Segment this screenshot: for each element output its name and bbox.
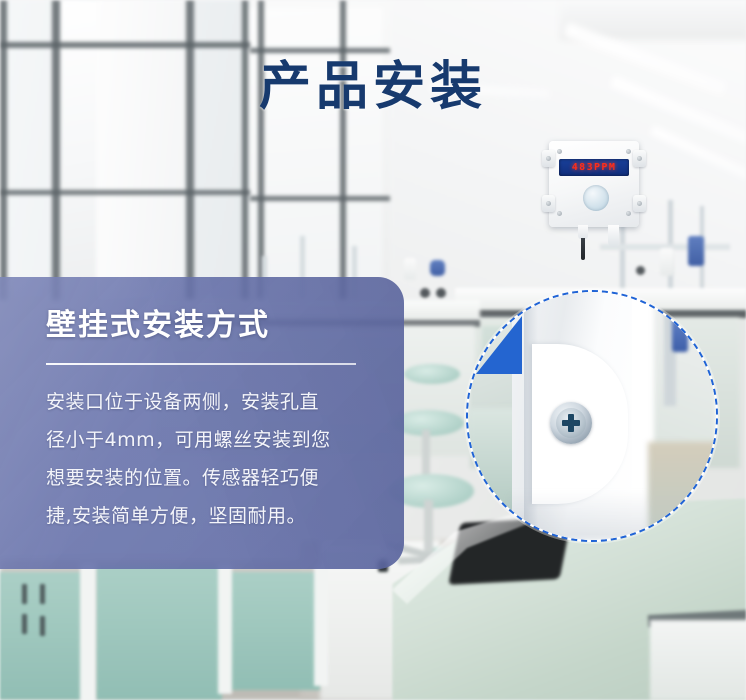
magnifier-backdrop-bench <box>648 442 716 540</box>
device-cable <box>581 238 585 260</box>
panel-description: 安装口位于设备两侧，安装孔直 径小于4mm，可用螺丝安装到您 想要安装的位置。传… <box>46 383 364 535</box>
panel-heading: 壁挂式安装方式 <box>46 309 404 342</box>
device-screw <box>557 211 562 216</box>
description-line-4: 捷,安装简单方便，坚固耐用。 <box>46 497 364 535</box>
device-screw <box>637 201 642 206</box>
device-cable-gland <box>578 225 588 239</box>
device-screw <box>637 156 642 161</box>
phillips-cross-icon <box>562 414 580 432</box>
description-line-3: 想要安装的位置。传感器轻巧便 <box>46 459 364 497</box>
device-screw <box>546 201 551 206</box>
device-probe <box>608 225 619 247</box>
description-line-1: 安装口位于设备两侧，安装孔直 <box>46 383 364 421</box>
device-sensor-vent <box>583 185 609 211</box>
mounting-hole-magnifier-callout <box>466 290 718 542</box>
wall-mounted-sensor-device: 483PPM <box>549 141 639 227</box>
product-installation-banner: 产品安装 483PPM <box>0 0 746 700</box>
page-title: 产品安装 <box>0 44 746 119</box>
magnifier-shadow <box>508 490 648 540</box>
device-screw <box>557 149 562 154</box>
magnifier-content <box>468 292 716 540</box>
device-reading-value: 483PPM <box>572 162 617 173</box>
device-led-display: 483PPM <box>559 159 629 176</box>
installation-info-panel: 壁挂式安装方式 安装口位于设备两侧，安装孔直 径小于4mm，可用螺丝安装到您 想… <box>0 277 404 569</box>
device-screw <box>546 156 551 161</box>
magnifier-backdrop-bottle <box>672 318 688 352</box>
device-screw <box>626 149 631 154</box>
description-line-2: 径小于4mm，可用螺丝安装到您 <box>46 421 364 459</box>
panel-divider <box>46 363 356 365</box>
device-screw <box>626 211 631 216</box>
